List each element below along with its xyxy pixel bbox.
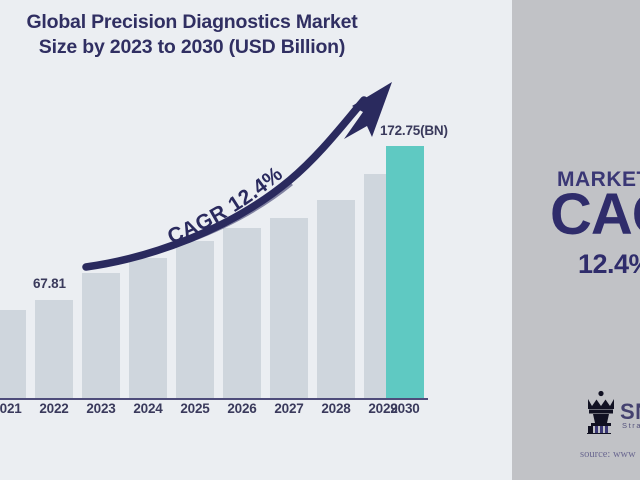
brand-logo-tagline: Strategy bbox=[622, 421, 640, 430]
side-cagr-value: 12.4% bbox=[578, 249, 640, 280]
value-label-2022: 67.81 bbox=[33, 276, 66, 291]
infographic-canvas: Global Precision Diagnostics Market Size… bbox=[0, 0, 640, 480]
tick-label-2027: 2027 bbox=[266, 401, 312, 416]
bar-chart-plot-area: 2021 2022 2023 2024 2025 2026 2027 2028 … bbox=[0, 60, 512, 480]
bar-2027 bbox=[270, 218, 308, 398]
bar-2030 bbox=[386, 146, 424, 398]
bar-2025 bbox=[176, 241, 214, 398]
x-axis-line bbox=[0, 398, 428, 400]
bar-2021 bbox=[0, 310, 26, 398]
source-attribution: source: www bbox=[580, 449, 636, 460]
bar-2023 bbox=[82, 273, 120, 398]
tick-label-2024: 2024 bbox=[125, 401, 171, 416]
tick-label-2022: 2022 bbox=[31, 401, 77, 416]
bar-2026 bbox=[223, 228, 261, 398]
side-panel: MARKET CAGR 12.4% SNS Strategy source: w… bbox=[512, 0, 640, 480]
tick-label-2021: 2021 bbox=[0, 401, 30, 416]
tick-label-2023: 2023 bbox=[78, 401, 124, 416]
value-label-2030: 172.75(BN) bbox=[380, 123, 448, 138]
bar-2028 bbox=[317, 200, 355, 398]
tick-label-2028: 2028 bbox=[313, 401, 359, 416]
chart-title: Global Precision Diagnostics Market Size… bbox=[0, 10, 392, 60]
tick-label-2026: 2026 bbox=[219, 401, 265, 416]
bar-2024 bbox=[129, 258, 167, 398]
tick-label-2030: 2030 bbox=[382, 401, 428, 416]
brand-logo: SNS Strategy bbox=[584, 390, 640, 436]
side-cagr-label: CAGR bbox=[550, 186, 640, 244]
bar-2022 bbox=[35, 300, 73, 398]
tick-label-2025: 2025 bbox=[172, 401, 218, 416]
chart-panel: Global Precision Diagnostics Market Size… bbox=[0, 0, 512, 480]
crown-chess-piece-icon bbox=[584, 390, 618, 434]
